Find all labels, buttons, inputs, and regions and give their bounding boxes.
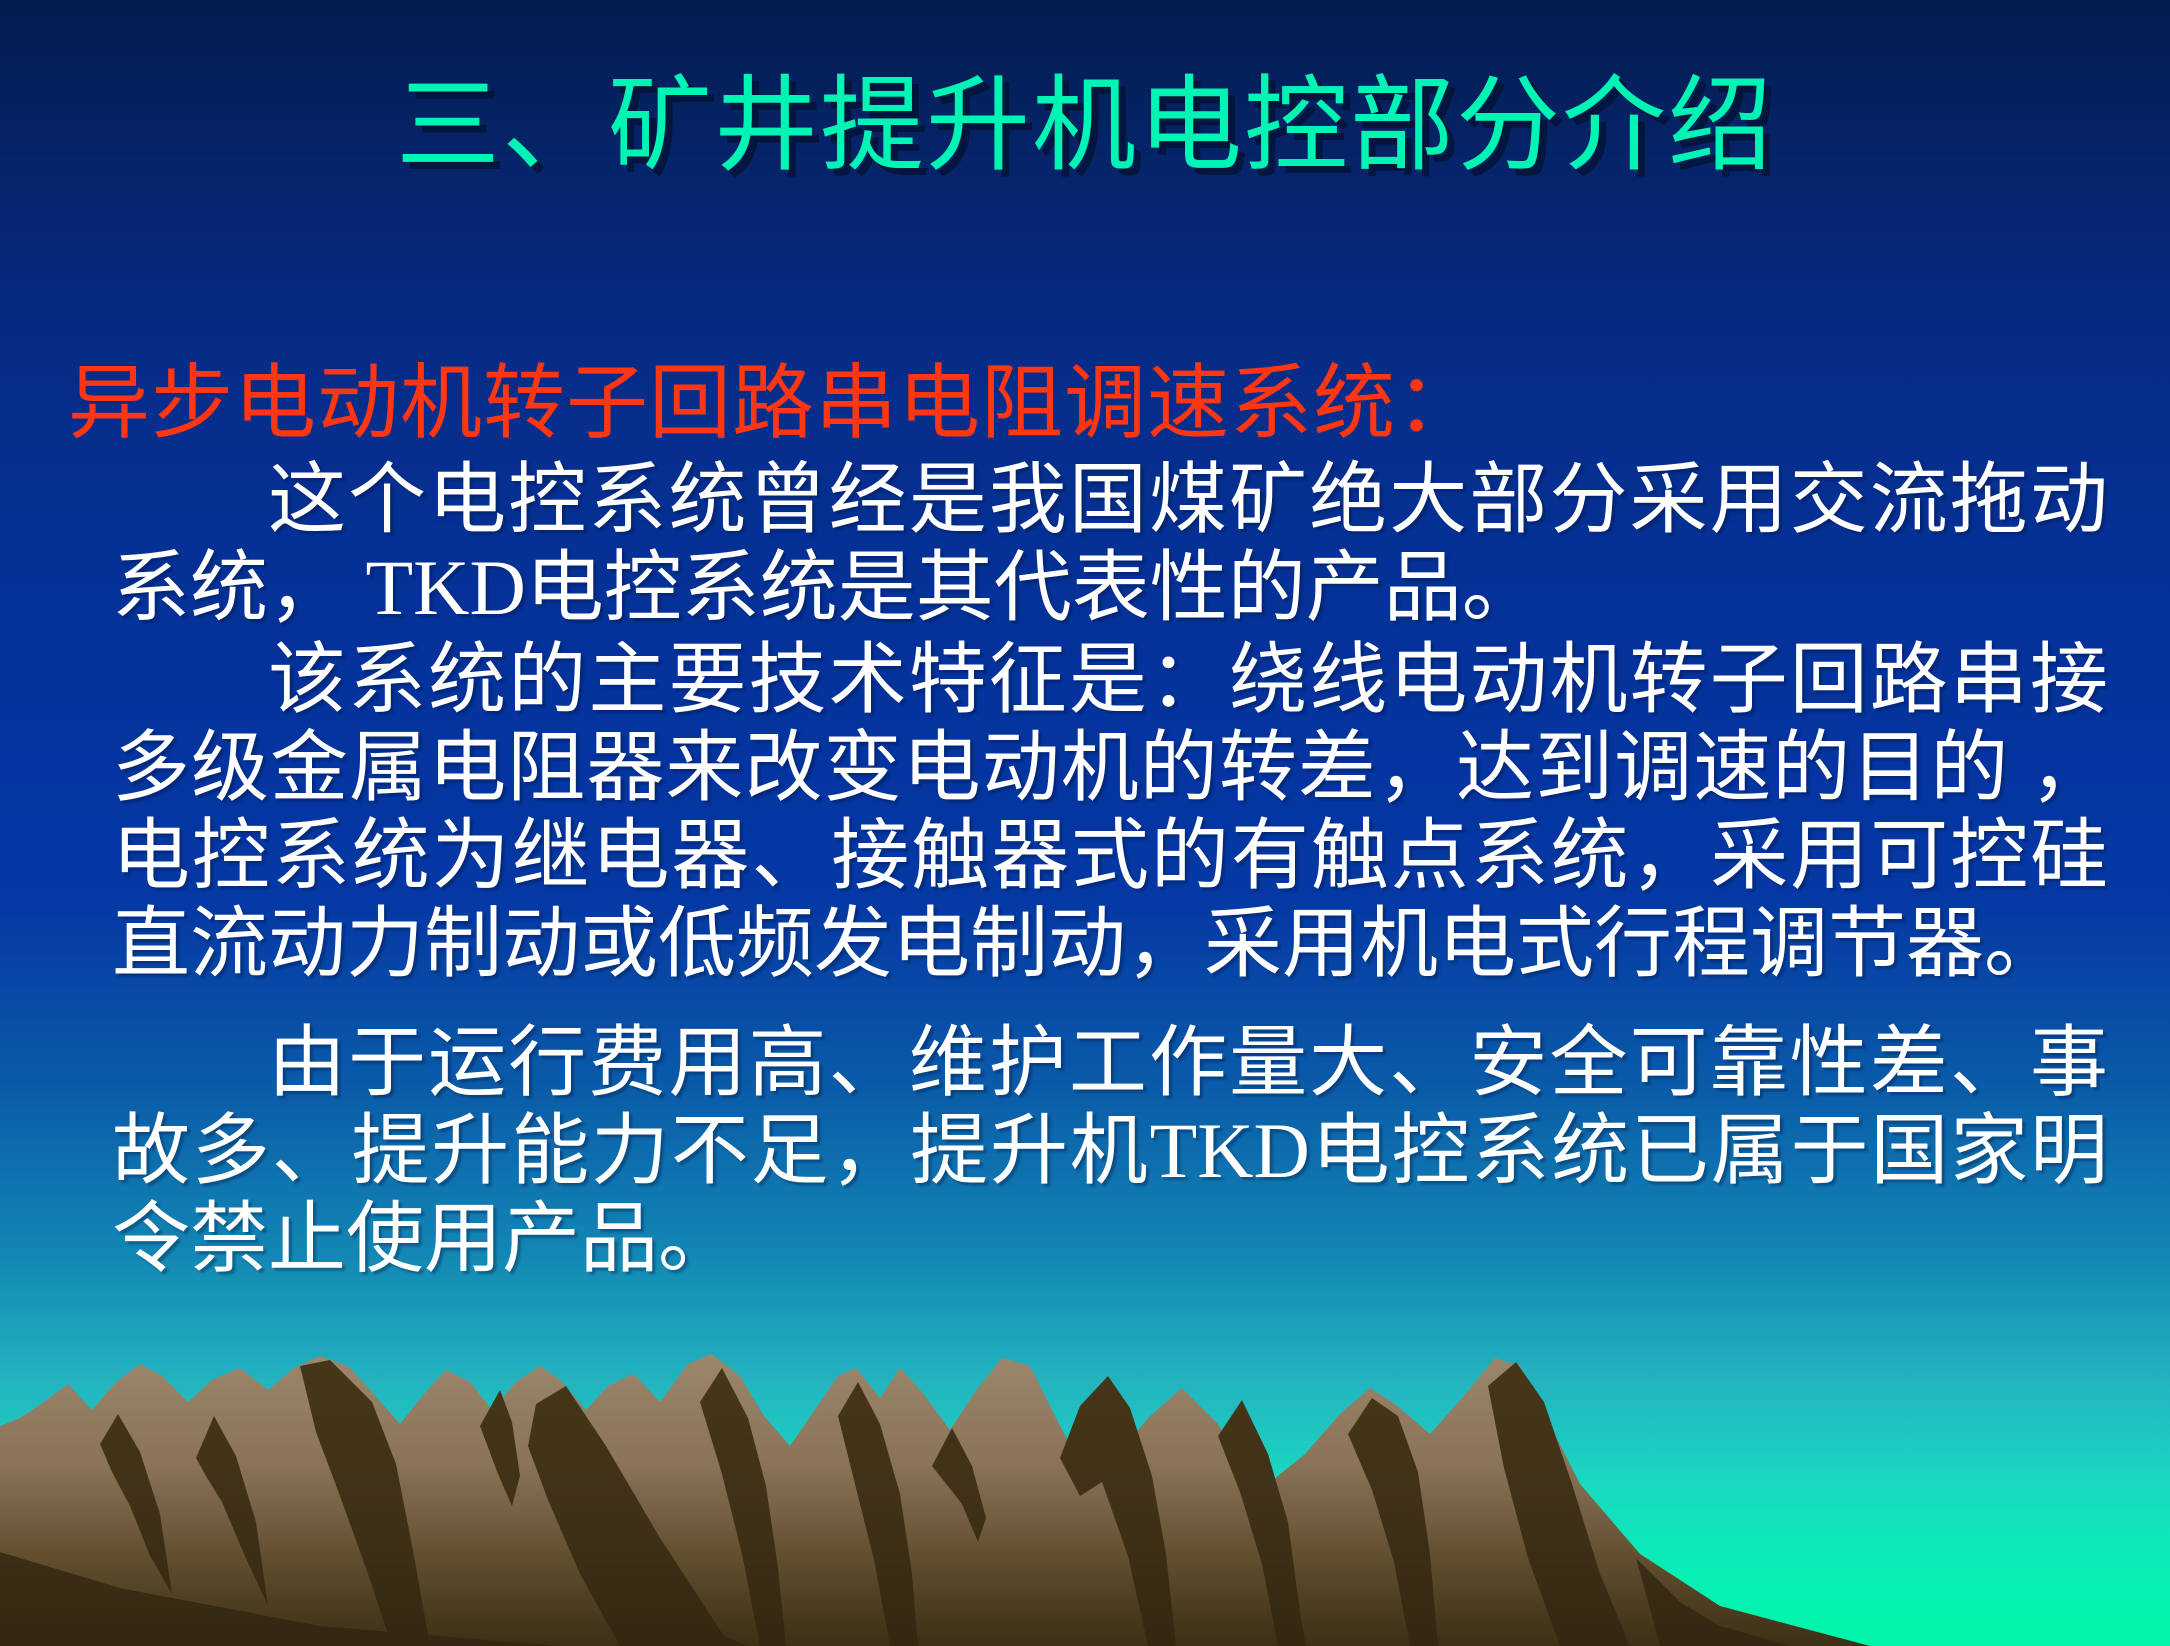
body-paragraph-3: 由于运行费用高、维护工作量大、安全可靠性差、事故多、提升能力不足，提升机TKD电… (68, 1019, 2108, 1283)
mountain-shadow-facets (0, 1360, 1790, 1646)
slide-title: 三、矿井提升机电控部分介绍 (0, 72, 2170, 181)
slide-content-body: 异步电动机转子回路串电阻调速系统： 这个电控系统曾经是我国煤矿绝大部分采用交流拖… (68, 358, 2108, 1283)
mountain-range-illustration (0, 1306, 2170, 1646)
body-paragraph-2: 该系统的主要技术特征是：绕线电动机转子回路串接多级金属电阻器来改变电动机的转差，… (68, 636, 2108, 989)
mountain-lit-face (0, 1354, 1870, 1646)
section-subtitle: 异步电动机转子回路串电阻调速系统： (68, 358, 2108, 450)
body-paragraph-1: 这个电控系统曾经是我国煤矿绝大部分采用交流拖动系统， TKD电控系统是其代表性的… (68, 456, 2108, 632)
presentation-slide: 三、矿井提升机电控部分介绍 异步电动机转子回路串电阻调速系统： 这个电控系统曾经… (0, 0, 2170, 1646)
